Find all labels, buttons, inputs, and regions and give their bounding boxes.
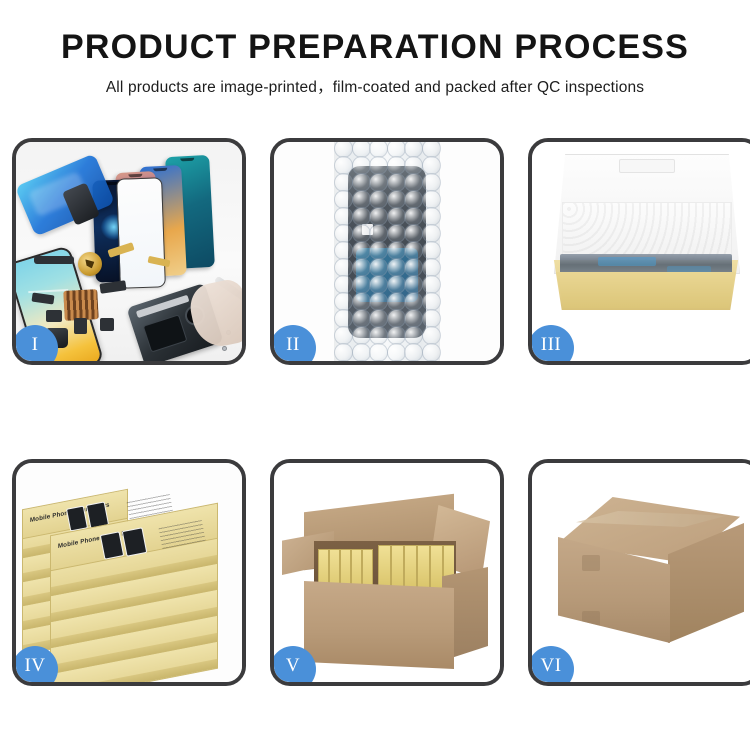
bubble-icon: [370, 191, 387, 208]
bubble-icon: [423, 225, 440, 242]
bubble-icon: [405, 293, 422, 310]
bubble-icon: [335, 293, 352, 310]
bubble-icon: [423, 157, 440, 174]
bubble-icon: [335, 208, 352, 225]
bubble-icon: [405, 191, 422, 208]
bubble-icon: [405, 344, 422, 361]
vibration-motor-icon: [78, 252, 102, 276]
retail-box-in-carton: [430, 545, 443, 591]
page-title: PRODUCT PREPARATION PROCESS: [0, 30, 750, 66]
bubble-icon: [388, 259, 405, 276]
bubble-icon: [335, 157, 352, 174]
bubble-icon: [388, 142, 405, 157]
bubble-icon: [370, 208, 387, 225]
bubble-icon: [388, 208, 405, 225]
header: PRODUCT PREPARATION PROCESS All products…: [0, 0, 750, 97]
button-flex-icon: [31, 293, 54, 305]
flex-cable-icon: [148, 256, 171, 267]
bubble-icon: [353, 157, 370, 174]
bubble-icon: [370, 259, 387, 276]
bubble-icon: [423, 344, 440, 361]
bubble-icon: [388, 157, 405, 174]
bubble-icon: [353, 191, 370, 208]
bubble-icon: [335, 225, 352, 242]
process-step-1: I: [12, 138, 246, 365]
bubble-icon: [370, 174, 387, 191]
bubble-icon: [353, 174, 370, 191]
process-step-4: Mobile Phone Spare Parts Mobile Phone Sp…: [12, 459, 246, 686]
bubble-icon: [423, 142, 440, 157]
camera-flex-icon: [99, 280, 126, 294]
bubble-icon: [405, 142, 422, 157]
bubble-icon: [388, 293, 405, 310]
bubble-icon: [405, 259, 422, 276]
bubble-icon: [405, 310, 422, 327]
process-step-grid: I II: [12, 138, 738, 686]
bubble-icon: [353, 276, 370, 293]
bubble-icon: [335, 242, 352, 259]
charging-port-icon: [100, 318, 114, 331]
process-step-5: V: [270, 459, 504, 686]
bubble-icon: [335, 344, 352, 361]
bubble-icon: [370, 242, 387, 259]
bubble-icon: [353, 225, 370, 242]
bubble-icon: [423, 242, 440, 259]
bubble-icon: [335, 276, 352, 293]
bubble-icon: [423, 310, 440, 327]
retail-box-in-carton: [378, 545, 391, 591]
bubble-icon: [388, 242, 405, 259]
bubble-icon: [370, 157, 387, 174]
bubble-icon: [353, 142, 370, 157]
bubble-icon: [405, 242, 422, 259]
connector-array-icon: [63, 289, 99, 321]
bubble-icon: [370, 293, 387, 310]
bubble-icon: [370, 225, 387, 242]
antenna-strip-icon: [34, 256, 74, 264]
infographic-page: PRODUCT PREPARATION PROCESS All products…: [0, 0, 750, 750]
step-3-illustration: III: [532, 142, 750, 361]
bubble-icon: [405, 225, 422, 242]
ic-chip-icon: [46, 310, 62, 322]
process-step-2: II: [270, 138, 504, 365]
bubble-icon: [423, 259, 440, 276]
bubble-icon: [370, 327, 387, 344]
retail-box-in-carton: [417, 545, 430, 591]
step-1-illustration: I: [16, 142, 242, 361]
bubble-icon: [335, 191, 352, 208]
bubble-icon: [388, 344, 405, 361]
bubble-icon: [423, 327, 440, 344]
bubble-icon: [388, 225, 405, 242]
bubble-icon: [388, 276, 405, 293]
step-6-illustration: VI: [532, 463, 750, 682]
bubble-icon: [405, 276, 422, 293]
bubble-icon: [353, 293, 370, 310]
kraft-box-stack: Mobile Phone Spare Parts Mobile Phone Sp…: [20, 485, 242, 682]
bubble-icon: [353, 259, 370, 276]
bubble-icon: [388, 191, 405, 208]
bubble-icon: [388, 174, 405, 191]
process-step-6: VI: [528, 459, 750, 686]
bubble-icon: [405, 327, 422, 344]
bubble-icon: [353, 310, 370, 327]
bubble-icon: [370, 310, 387, 327]
bubble-icon: [388, 310, 405, 327]
retail-box-in-carton: [404, 545, 417, 591]
flex-cable-icon: [107, 242, 134, 258]
bubble-icon: [423, 174, 440, 191]
bubble-icon: [423, 276, 440, 293]
bubble-icon: [370, 142, 387, 157]
step-4-illustration: Mobile Phone Spare Parts Mobile Phone Sp…: [16, 463, 242, 682]
bubble-icon: [335, 174, 352, 191]
bubble-icon: [370, 344, 387, 361]
bubble-icon: [335, 142, 352, 157]
process-step-3: III: [528, 138, 750, 365]
bubble-icon: [405, 208, 422, 225]
bubble-icon: [353, 242, 370, 259]
carton-front-panel-icon: [304, 581, 454, 669]
bubble-icon: [388, 327, 405, 344]
bubble-field: [334, 142, 440, 361]
bubble-icon: [405, 174, 422, 191]
bubble-icon: [423, 191, 440, 208]
bubble-icon: [405, 157, 422, 174]
bubble-icon: [335, 327, 352, 344]
bubble-icon: [423, 293, 440, 310]
bubble-icon: [335, 259, 352, 276]
page-subtitle: All products are image-printed，film-coat…: [0, 75, 750, 97]
bubble-icon: [370, 276, 387, 293]
bubble-icon: [353, 208, 370, 225]
bubble-icon: [353, 344, 370, 361]
sim-tray-icon: [74, 318, 87, 334]
bubble-icon: [335, 310, 352, 327]
bubble-wrap-sheet-icon: [334, 142, 440, 361]
step-5-illustration: V: [274, 463, 500, 682]
bubble-icon: [353, 327, 370, 344]
step-2-illustration: II: [274, 142, 500, 361]
bubble-icon: [423, 208, 440, 225]
kraft-mailer-front-icon: [548, 272, 744, 308]
retail-box-in-carton: [391, 545, 404, 591]
